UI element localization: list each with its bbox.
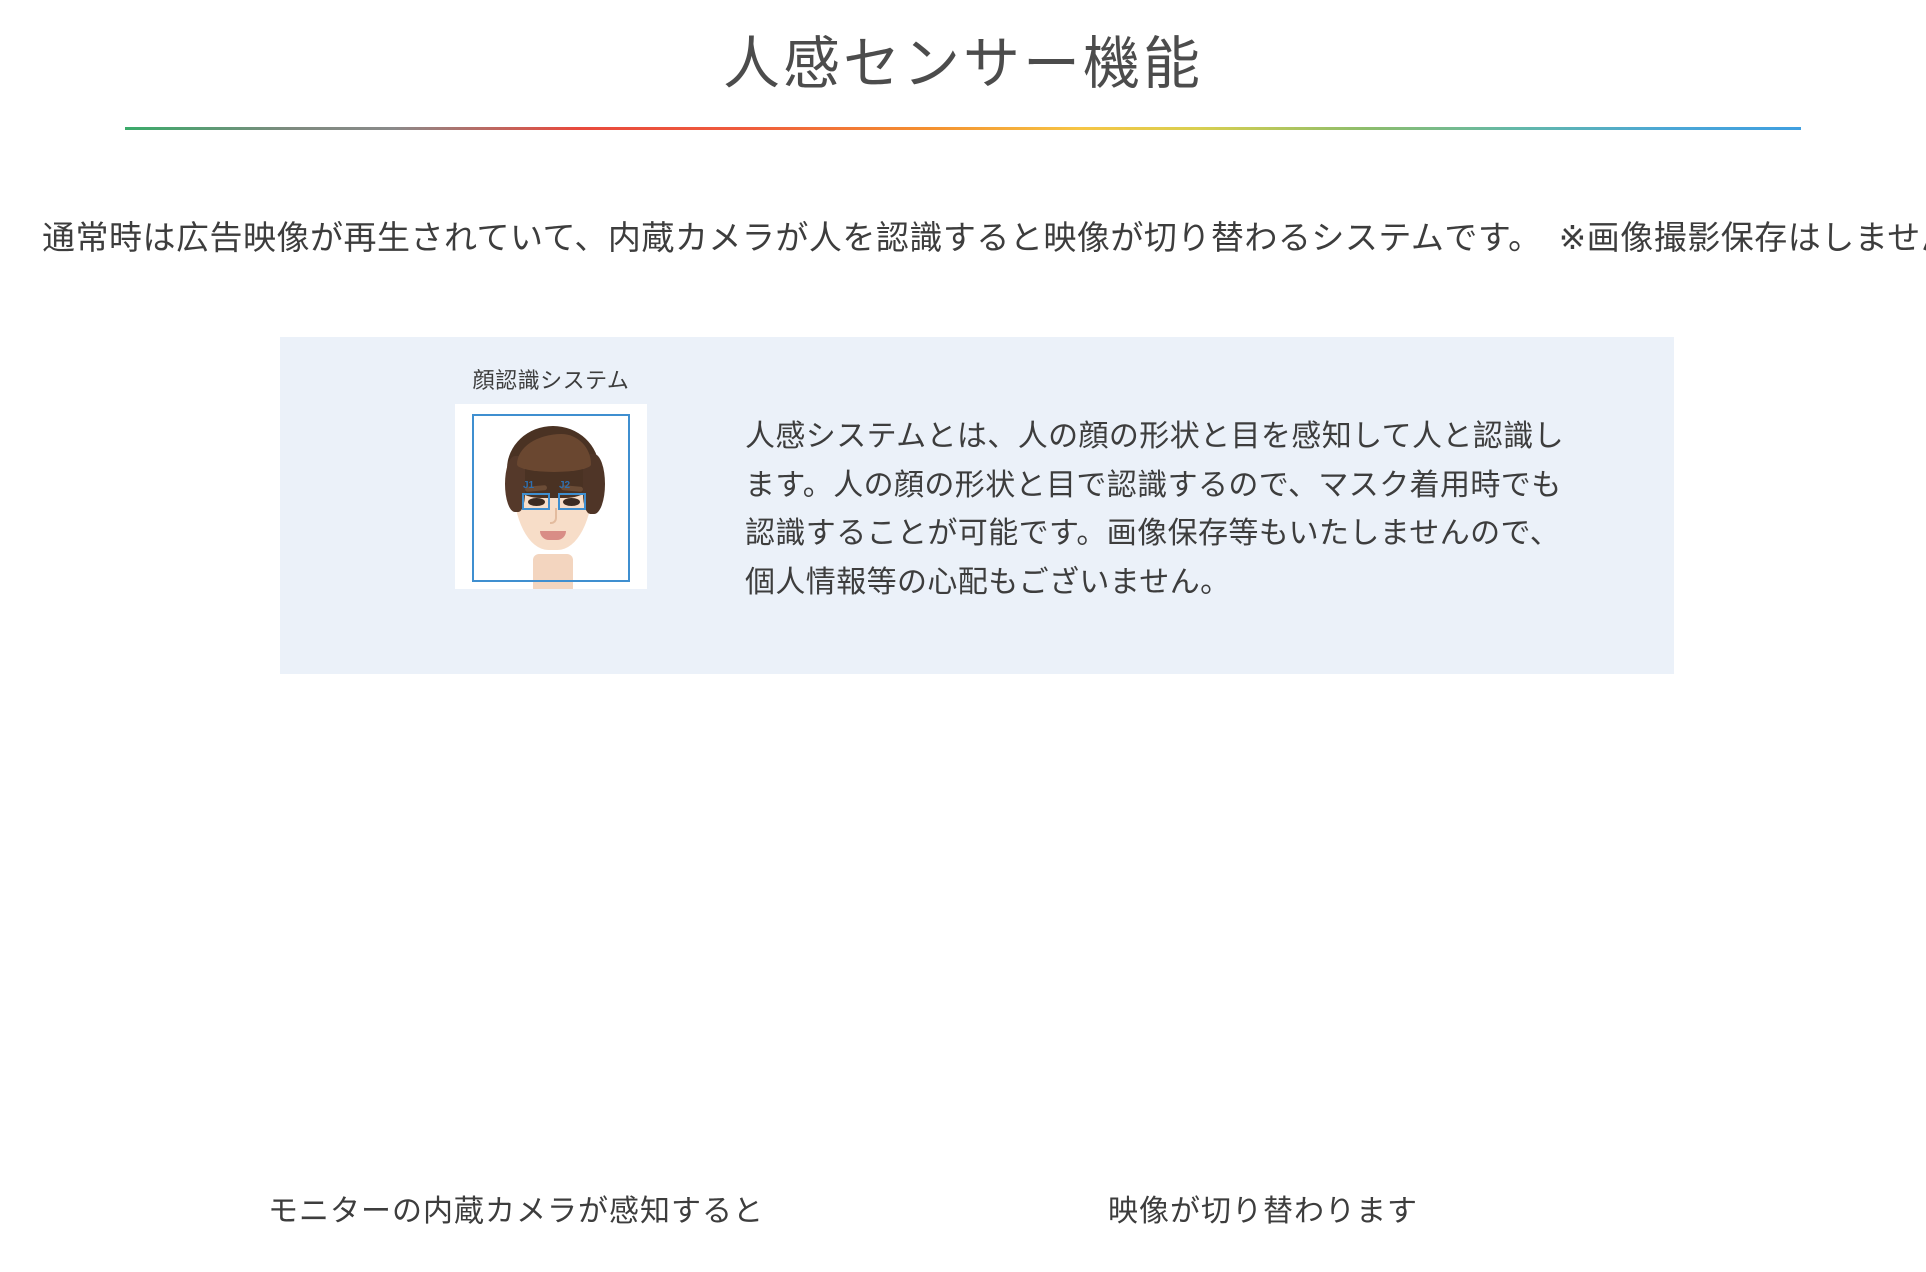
- eye-detection-box-right-icon: [558, 493, 586, 510]
- eye-label-right: J2: [559, 480, 570, 491]
- info-panel-body-text: 人感システムとは、人の顔の形状と目を感知して人と認識します。人の顔の形状と目で認…: [745, 413, 1565, 607]
- caption-right: 映像が切り替わります: [1108, 1186, 1418, 1230]
- face-recognition-block: 顔認識システム J1 J2: [455, 363, 647, 589]
- lead-paragraph: 通常時は広告映像が再生されていて、内蔵カメラが人を認識すると映像が切り替わるシス…: [42, 213, 1902, 263]
- face-photo: J1 J2: [455, 404, 647, 589]
- eye-label-left: J1: [523, 480, 534, 491]
- face-caption: 顔認識システム: [455, 363, 647, 395]
- caption-left: モニターの内蔵カメラが感知すると: [268, 1186, 764, 1230]
- page-title: 人感センサー機能: [0, 18, 1926, 100]
- slide-page: 人感センサー機能 通常時は広告映像が再生されていて、内蔵カメラが人を認識すると映…: [0, 0, 1926, 1272]
- eye-detection-box-left-icon: [522, 493, 550, 510]
- face-detection-box-icon: [472, 414, 630, 582]
- title-gradient-divider: [125, 127, 1801, 130]
